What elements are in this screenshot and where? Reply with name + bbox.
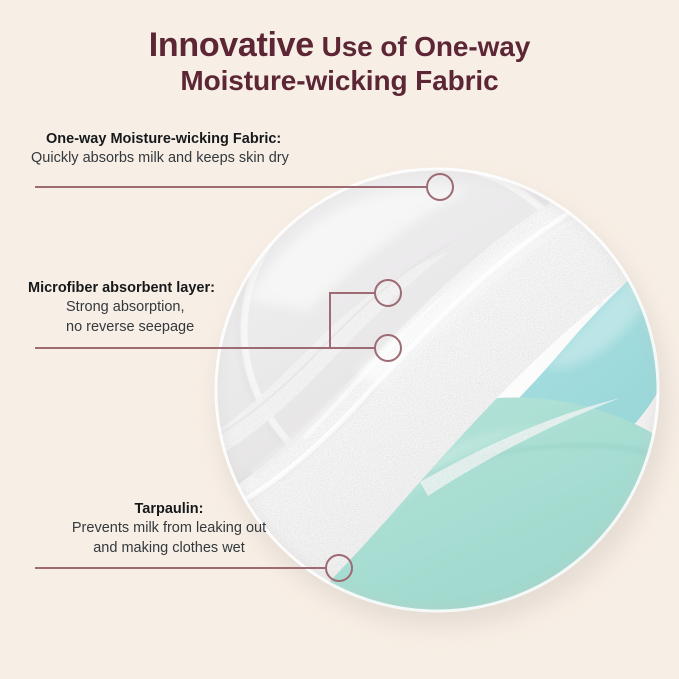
pad-layers (186, 150, 679, 660)
callout-tarpaulin-heading: Tarpaulin: (33, 500, 305, 519)
callout-microfiber-layer-line-2: no reverse seepage (28, 318, 215, 338)
callout-one-way-fabric: One-way Moisture-wicking Fabric: Quickly… (31, 130, 289, 169)
nursing-pad-illustration (0, 0, 679, 679)
page-title: Innovative Use of One-way Moisture-wicki… (0, 26, 679, 98)
callout-tarpaulin: Tarpaulin: Prevents milk from leaking ou… (33, 500, 305, 559)
callout-microfiber-layer: Microfiber absorbent layer: Strong absor… (28, 279, 215, 338)
title-emphasis: Innovative (149, 26, 314, 64)
callout-tarpaulin-line-2: and making clothes wet (33, 539, 305, 559)
title-line-1: Innovative Use of One-way (0, 26, 679, 65)
callout-one-way-fabric-heading: One-way Moisture-wicking Fabric: (31, 130, 289, 149)
callout-microfiber-layer-line-1: Strong absorption, (28, 298, 215, 318)
title-line-1-rest: Use of One-way (314, 31, 530, 62)
title-line-2: Moisture-wicking Fabric (0, 65, 679, 97)
callout-microfiber-layer-heading: Microfiber absorbent layer: (28, 279, 215, 298)
product-photo (0, 0, 679, 679)
callout-one-way-fabric-line-1: Quickly absorbs milk and keeps skin dry (31, 149, 289, 169)
callout-tarpaulin-line-1: Prevents milk from leaking out (33, 519, 305, 539)
infographic-root: Innovative Use of One-way Moisture-wicki… (0, 0, 679, 679)
